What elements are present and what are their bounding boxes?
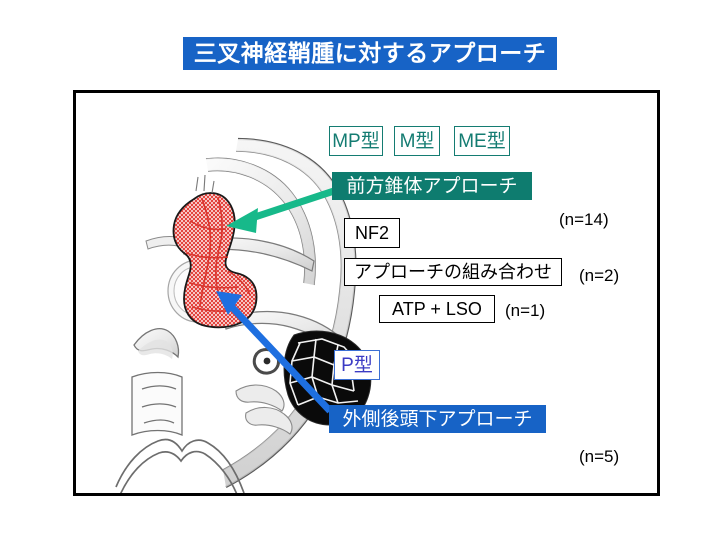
note-box-atp-lso[interactable]: ATP + LSO <box>379 295 495 323</box>
note-box-nf2[interactable]: NF2 <box>344 218 400 248</box>
approach-banner-lateral-suboccipital-label: 外側後頭下アプローチ <box>342 410 532 429</box>
type-chip-mp-label: MP型 <box>332 132 380 151</box>
note-box-atp-lso-label: ATP + LSO <box>392 300 482 318</box>
count-combination: (n=2) <box>579 267 619 284</box>
note-box-nf2-label: NF2 <box>355 224 389 242</box>
count-anterior-transpetrosal: (n=14) <box>559 211 609 228</box>
type-chip-p[interactable]: P型 <box>334 350 380 380</box>
type-chip-mp[interactable]: MP型 <box>329 126 383 156</box>
count-atp-lso: (n=1) <box>505 302 545 319</box>
type-chip-m-label: M型 <box>400 132 435 151</box>
approach-banner-lateral-suboccipital[interactable]: 外側後頭下アプローチ <box>329 405 546 433</box>
note-box-combination[interactable]: アプローチの組み合わせ <box>344 258 562 286</box>
note-box-combination-label: アプローチの組み合わせ <box>354 263 552 281</box>
tumor-region <box>173 193 256 327</box>
type-chip-m[interactable]: M型 <box>394 126 440 156</box>
content-frame: MP型 M型 ME型 前方錐体アプローチ (n=14) NF2 アプローチの組み… <box>73 90 660 496</box>
type-chip-me[interactable]: ME型 <box>454 126 510 156</box>
page-title: 三叉神経鞘腫に対するアプローチ <box>194 42 547 65</box>
slide-title-bar: 三叉神経鞘腫に対するアプローチ <box>183 37 557 70</box>
slide-canvas: 三叉神経鞘腫に対するアプローチ <box>0 0 720 540</box>
approach-banner-anterior-transpetrosal[interactable]: 前方錐体アプローチ <box>332 172 532 200</box>
type-chip-p-label: P型 <box>341 356 373 375</box>
count-lateral-suboccipital: (n=5) <box>579 448 619 465</box>
approach-banner-anterior-transpetrosal-label: 前方錐体アプローチ <box>346 177 517 196</box>
type-chip-me-label: ME型 <box>458 132 506 151</box>
